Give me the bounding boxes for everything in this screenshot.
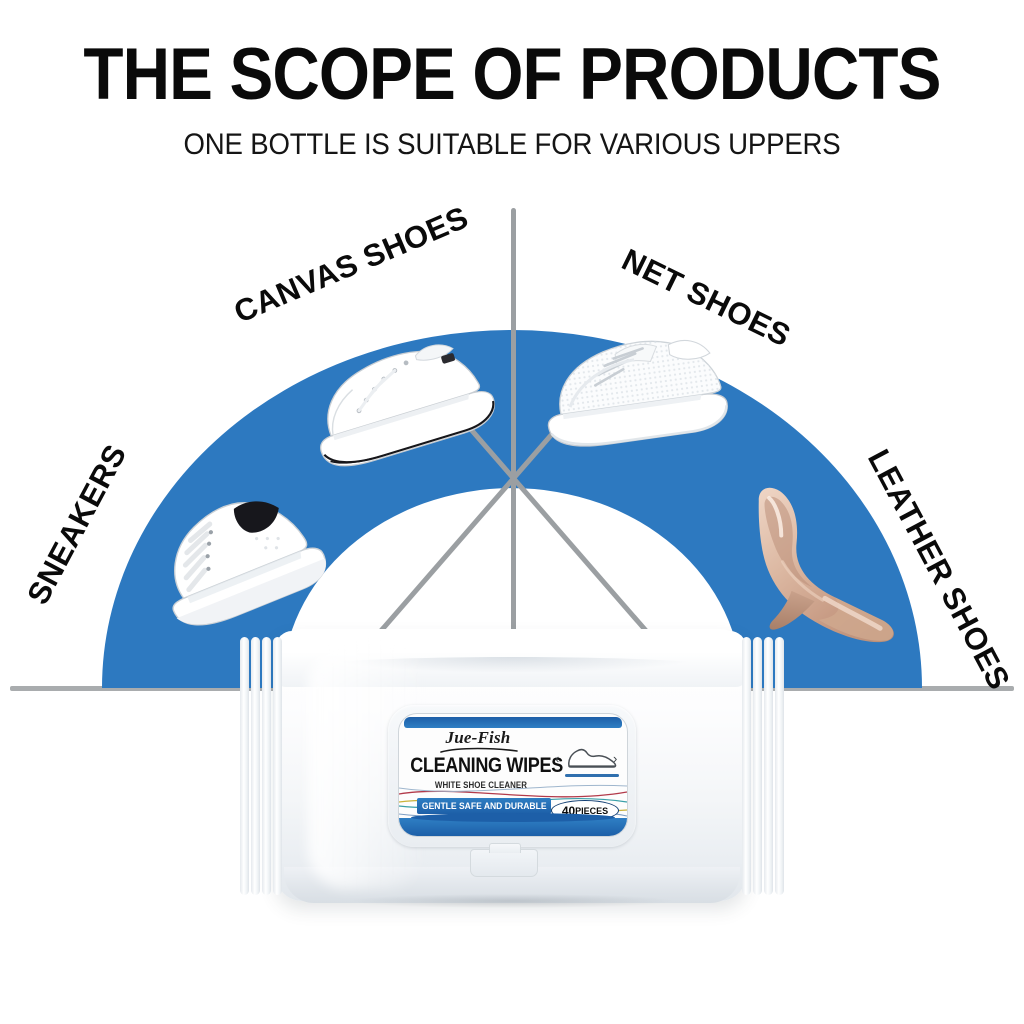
label-accent-bar <box>565 774 619 777</box>
package-pleat-right <box>742 637 751 895</box>
label-top-band <box>404 717 622 728</box>
next-arrow-icon: › <box>613 751 617 766</box>
package-drop-shadow <box>296 893 728 909</box>
product-tagline: GENTLE SAFE AND DURABLE <box>417 798 551 814</box>
package-pleat-left <box>240 637 249 895</box>
infographic-canvas: THE SCOPE OF PRODUCTS ONE BOTTLE IS SUIT… <box>0 0 1024 1024</box>
page-subtitle: ONE BOTTLE IS SUITABLE FOR VARIOUS UPPER… <box>41 130 983 160</box>
product-name: CLEANING WIPES <box>410 754 548 778</box>
page-title: THE SCOPE OF PRODUCTS <box>51 38 973 111</box>
product-subname: WHITE SHOE CLEANER <box>409 780 553 790</box>
shoe-image-canvas-shoes <box>296 326 506 476</box>
brand-name: Jue-Fish <box>399 728 557 748</box>
package-latch <box>470 849 538 877</box>
package-pleat-left <box>262 637 271 895</box>
divider-center <box>511 208 516 690</box>
label-bottom-band <box>399 818 627 836</box>
category-label-canvas-shoes: CANVAS SHOES <box>229 200 474 331</box>
shoe-image-net-shoes <box>534 318 734 458</box>
package-pleat-right <box>775 637 784 895</box>
tagline-text: GENTLE SAFE AND DURABLE <box>422 801 547 812</box>
brand-swoosh-icon <box>439 747 519 754</box>
package-pleat-left <box>273 637 282 895</box>
package-pleat-left <box>251 637 260 895</box>
shoe-icon <box>565 742 619 772</box>
shoe-image-sneakers <box>134 452 334 652</box>
package-pleat-right <box>753 637 762 895</box>
package-pleat-right <box>764 637 773 895</box>
prev-arrow-icon: ‹ <box>555 751 559 766</box>
product-package: Jue-Fish CLEANING WIPES WHITE SHOE CLEAN… <box>238 631 786 901</box>
product-label: Jue-Fish CLEANING WIPES WHITE SHOE CLEAN… <box>398 713 628 837</box>
